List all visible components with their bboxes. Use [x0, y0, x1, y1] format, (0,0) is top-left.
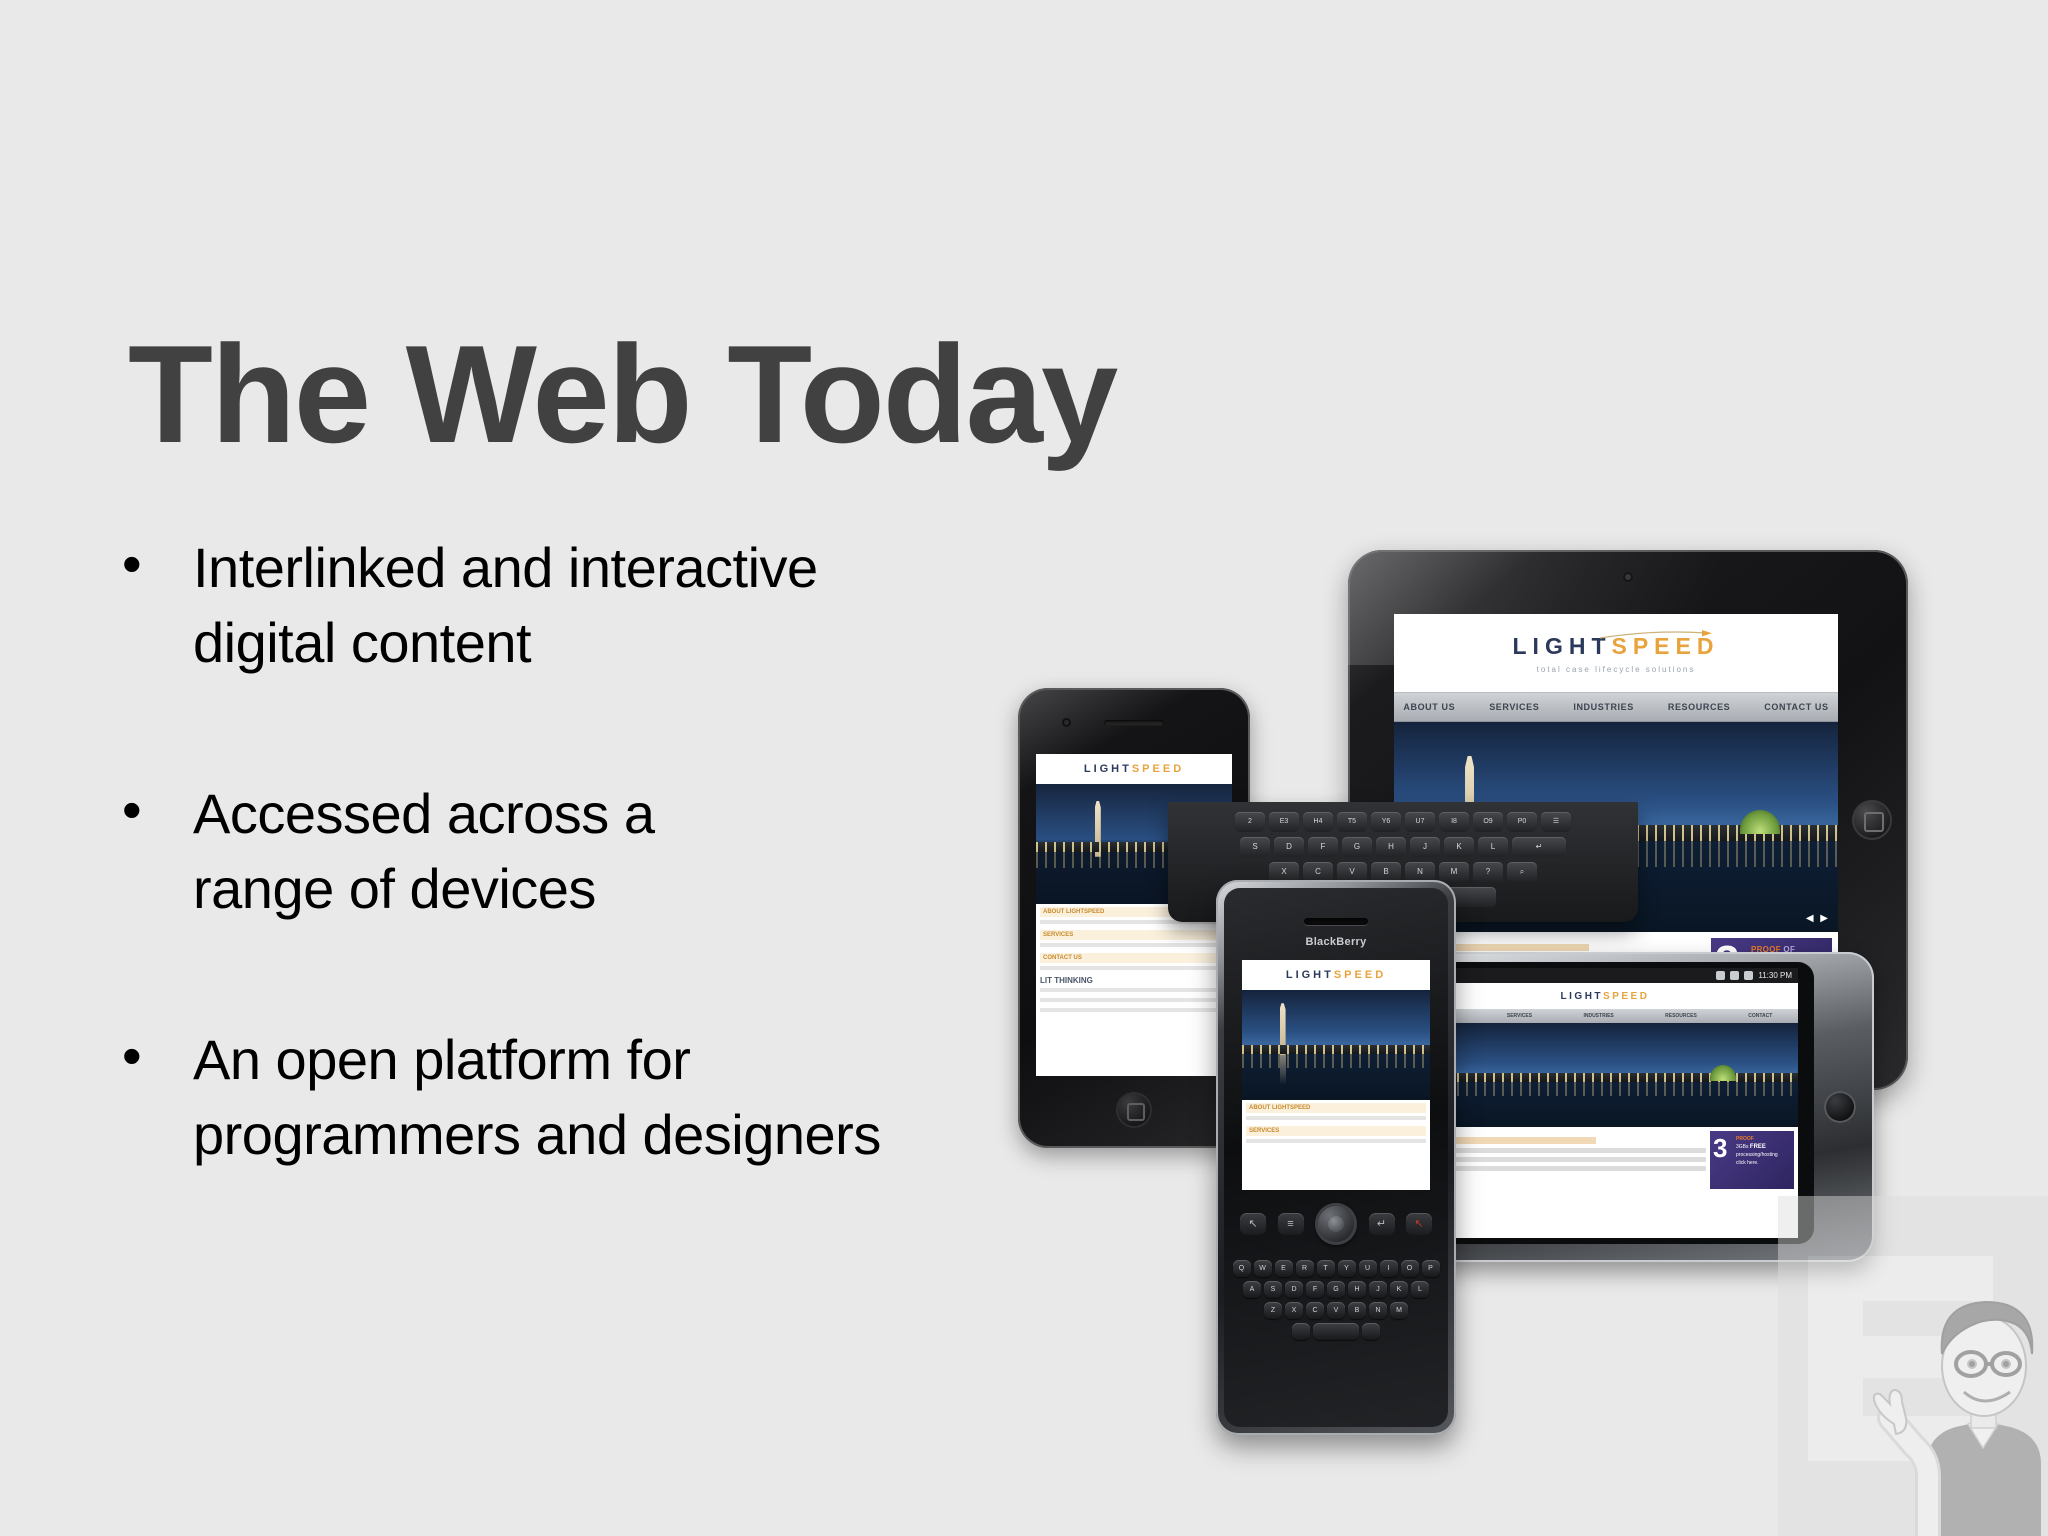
menu-button-icon[interactable]: ≡ [1278, 1213, 1304, 1235]
bullet-marker-icon: • [118, 530, 193, 598]
logo-light: LIGHT [1084, 763, 1132, 775]
nav-item-contact[interactable]: CONTACT [1748, 1013, 1772, 1019]
promo-number: 3 [1713, 1135, 1727, 1161]
bullet-line-2: range of devices [193, 851, 1048, 926]
nav-item-services[interactable]: SERVICES [1489, 702, 1539, 712]
key[interactable]: H [1348, 1281, 1366, 1298]
earpiece-speaker-icon [1304, 918, 1368, 925]
logo-light: LIGHT [1286, 969, 1334, 981]
key[interactable]: Z [1264, 1302, 1282, 1319]
key[interactable]: M [1390, 1302, 1408, 1319]
keyboard-row: X C V B N M ? ⌕ [1180, 862, 1626, 882]
key[interactable]: S [1240, 837, 1270, 857]
lit-thinking-heading: LIT THINKING [1040, 976, 1228, 985]
key[interactable]: Q [1233, 1260, 1251, 1277]
site-sections: ABOUT LIGHTSPEED SERVICES [1242, 1100, 1430, 1152]
bullet-marker-icon: • [118, 1022, 193, 1090]
promo-line-1: PROOF [1736, 1135, 1790, 1143]
site-navigation[interactable]: ABOUT US SERVICES INDUSTRIES RESOURCES C… [1394, 692, 1838, 722]
key[interactable]: B [1371, 862, 1401, 882]
blackberry-brand-label: BlackBerry [1224, 936, 1448, 948]
bullet-line-2: digital content [193, 605, 1048, 680]
carousel-arrows-icon[interactable]: ◀ ▶ [1806, 913, 1830, 924]
sky [1412, 1023, 1798, 1079]
blackberry-device: BlackBerry LIGHTSPEED [1216, 880, 1456, 1435]
promo-line-4[interactable]: click here. [1736, 1159, 1790, 1167]
key[interactable]: J [1369, 1281, 1387, 1298]
promo-free: FREE [1750, 1144, 1766, 1150]
back-button-icon[interactable]: ↵ [1369, 1213, 1395, 1235]
device-cluster-image: LIGHTSPEED total case lifecycle solution… [1018, 520, 2048, 1170]
key[interactable]: K [1444, 837, 1474, 857]
key[interactable]: F [1306, 1281, 1324, 1298]
key[interactable]: P0 [1507, 812, 1537, 832]
site-header: LIGHTSPEED [1036, 754, 1232, 784]
promo-text: PROOF 3GBs FREE processing/hosting click… [1736, 1135, 1790, 1167]
key[interactable]: E3 [1269, 812, 1299, 832]
content-column [1412, 1127, 1710, 1193]
nav-item-contact-us[interactable]: CONTACT US [1764, 702, 1828, 712]
key[interactable]: 2 [1235, 812, 1265, 832]
keyboard-row: Q W E R T Y U I O P [1236, 1260, 1436, 1277]
site-logo: LIGHTSPEED [1561, 991, 1650, 1002]
list-item: • Accessed across a range of devices [118, 776, 1048, 926]
logo-light: LIGHT [1561, 991, 1604, 1002]
section-services[interactable]: SERVICES [1246, 1126, 1426, 1136]
section-services[interactable]: SERVICES [1040, 930, 1228, 940]
key[interactable]: M [1439, 862, 1469, 882]
earpiece-speaker-icon [1104, 720, 1164, 726]
logo-light: LIGHT [1513, 633, 1612, 659]
key[interactable]: U [1359, 1260, 1377, 1277]
promo-line-3: processing/hosting [1736, 1151, 1790, 1159]
key[interactable]: V [1337, 862, 1367, 882]
key[interactable]: E [1275, 1260, 1293, 1277]
site-content-area: 3 PROOF 3GBs FREE processing/hosting cli… [1412, 1127, 1798, 1193]
bullet-line-2: programmers and designers [193, 1097, 1048, 1172]
site-navigation[interactable]: ABOUT SERVICES INDUSTRIES RESOURCES CONT… [1412, 1009, 1798, 1023]
bullet-marker-icon: • [118, 776, 193, 844]
home-button-icon [1116, 1092, 1152, 1128]
nav-item-services[interactable]: SERVICES [1507, 1013, 1532, 1019]
bullet-line-1: An open platform for [193, 1028, 690, 1091]
key[interactable]: V [1327, 1302, 1345, 1319]
nav-item-resources[interactable]: RESOURCES [1665, 1013, 1697, 1019]
bullet-text: An open platform for programmers and des… [193, 1022, 1048, 1172]
home-button-icon [1824, 1091, 1856, 1123]
key[interactable]: U7 [1405, 812, 1435, 832]
key[interactable]: H4 [1303, 812, 1333, 832]
section-contact[interactable]: CONTACT US [1040, 953, 1228, 963]
mascot-watermark [1778, 1196, 2048, 1536]
key-enter[interactable]: ↵ [1512, 837, 1566, 857]
status-time: 11:30 PM [1758, 971, 1792, 980]
key[interactable]: O [1401, 1260, 1419, 1277]
keyboard-row: 2 E3 H4 T5 Y6 U7 I8 O9 P0 ☰ [1180, 812, 1626, 832]
key[interactable]: A [1243, 1281, 1261, 1298]
key[interactable]: B [1348, 1302, 1366, 1319]
blackberry-screen: LIGHTSPEED ABOUT LIGHTSPEED [1242, 960, 1430, 1190]
section-body [1040, 998, 1228, 1002]
section-body [1040, 943, 1228, 947]
section-body [1040, 1008, 1228, 1012]
bullet-line-1: Accessed across a [193, 782, 654, 845]
key[interactable]: T5 [1337, 812, 1367, 832]
notification-icon [1716, 971, 1725, 980]
skyline-reflection [1242, 1054, 1430, 1068]
nav-item-resources[interactable]: RESOURCES [1668, 702, 1730, 712]
key[interactable]: T [1317, 1260, 1335, 1277]
key[interactable]: K [1390, 1281, 1408, 1298]
key[interactable]: I [1380, 1260, 1398, 1277]
end-call-button-icon[interactable]: ↖ [1406, 1213, 1432, 1235]
nav-item-industries[interactable]: INDUSTRIES [1583, 1013, 1613, 1019]
content-line [1416, 1166, 1706, 1171]
section-body [1246, 1116, 1426, 1120]
key[interactable]: C [1306, 1302, 1324, 1319]
site-header: LIGHTSPEED [1412, 983, 1798, 1009]
hero-banner [1412, 1023, 1798, 1127]
key[interactable]: R [1296, 1260, 1314, 1277]
website-lightspeed-mobile: LIGHTSPEED ABOUT LIGHTSPEED [1242, 960, 1430, 1190]
content-line [1416, 1157, 1706, 1162]
key[interactable]: O9 [1473, 812, 1503, 832]
key[interactable]: X [1269, 862, 1299, 882]
key[interactable]: N [1369, 1302, 1387, 1319]
mascot-watermark-icon [1778, 1196, 2048, 1536]
bullet-list: • Interlinked and interactive digital co… [118, 530, 1048, 1172]
logo-speed: SPEED [1132, 763, 1184, 775]
sync-icon [1730, 971, 1739, 980]
hero-banner [1242, 990, 1430, 1100]
key-alt[interactable] [1292, 1323, 1310, 1340]
key-space[interactable] [1313, 1323, 1359, 1340]
key[interactable]: P [1422, 1260, 1440, 1277]
site-header: LIGHTSPEED total case lifecycle solution… [1394, 614, 1838, 692]
bullet-line-1: Interlinked and interactive [193, 536, 818, 599]
promo-banner[interactable]: 3 PROOF 3GBs FREE processing/hosting cli… [1710, 1131, 1794, 1189]
key[interactable]: Y [1338, 1260, 1356, 1277]
home-button-icon [1852, 800, 1892, 840]
site-logo: LIGHTSPEED [1286, 969, 1386, 981]
key[interactable]: C [1303, 862, 1333, 882]
section-body [1040, 966, 1228, 970]
key[interactable]: L [1478, 837, 1508, 857]
call-button-icon[interactable]: ↖ [1240, 1213, 1266, 1235]
city-skyline [1242, 1045, 1430, 1054]
site-logo: LIGHTSPEED [1084, 763, 1184, 775]
key-menu[interactable]: ☰ [1541, 812, 1571, 832]
keyboard-row: A S D F G H J K L [1236, 1281, 1436, 1298]
status-bar: 11:30 PM [1412, 968, 1798, 983]
slide: The Web Today • Interlinked and interact… [0, 0, 2048, 1536]
key[interactable]: F [1308, 837, 1338, 857]
key-search[interactable]: ⌕ [1507, 862, 1537, 882]
trackball-icon[interactable] [1315, 1203, 1357, 1245]
key[interactable]: X [1285, 1302, 1303, 1319]
list-item: • Interlinked and interactive digital co… [118, 530, 1048, 680]
keyboard-row: Z X C V B N M [1236, 1302, 1436, 1319]
key[interactable]: L [1411, 1281, 1429, 1298]
section-body [1040, 988, 1228, 992]
logo-speed: SPEED [1334, 969, 1386, 981]
blackberry-nav-keys[interactable]: ↖ ≡ ↵ ↖ [1240, 1198, 1432, 1250]
bullet-text: Accessed across a range of devices [193, 776, 1048, 926]
key[interactable]: W [1254, 1260, 1272, 1277]
key[interactable]: I8 [1439, 812, 1469, 832]
site-header: LIGHTSPEED [1242, 960, 1430, 990]
page-title: The Web Today [128, 325, 1116, 464]
key[interactable]: S [1264, 1281, 1282, 1298]
key[interactable]: N [1405, 862, 1435, 882]
section-body [1246, 1139, 1426, 1143]
keyboard-row-space [1236, 1323, 1436, 1340]
promo-gbs: 3GBs [1736, 1144, 1750, 1150]
camera-icon [1062, 718, 1071, 727]
blackberry-body: BlackBerry LIGHTSPEED [1224, 888, 1448, 1427]
key[interactable]: Y6 [1371, 812, 1401, 832]
key[interactable]: D [1274, 837, 1304, 857]
skyline-reflection [1412, 1082, 1798, 1096]
keyboard-row: S D F G H J K L ↵ [1180, 837, 1626, 857]
promo-proof: PROOF [1736, 1136, 1754, 1142]
list-item: • An open platform for programmers and d… [118, 1022, 1048, 1172]
camera-icon [1623, 572, 1633, 582]
sidebar-column: 3 PROOF 3GBs FREE processing/hosting cli… [1710, 1127, 1798, 1193]
key-shift[interactable] [1362, 1323, 1380, 1340]
content-line [1416, 1148, 1706, 1153]
section-about[interactable]: ABOUT LIGHTSPEED [1246, 1103, 1426, 1113]
swoosh-icon [1598, 630, 1714, 640]
android-screen: 11:30 PM LIGHTSPEED ABOUT SERVICES INDUS… [1412, 968, 1798, 1238]
key[interactable]: G [1342, 837, 1372, 857]
nav-item-about-us[interactable]: ABOUT US [1403, 702, 1455, 712]
sky [1242, 990, 1430, 1049]
promo-line-2: 3GBs FREE [1736, 1143, 1790, 1151]
key[interactable]: J [1410, 837, 1440, 857]
logo-speed: SPEED [1603, 991, 1649, 1002]
key[interactable]: D [1285, 1281, 1303, 1298]
bullet-text: Interlinked and interactive digital cont… [193, 530, 1048, 680]
city-skyline [1412, 1073, 1798, 1082]
nav-item-industries[interactable]: INDUSTRIES [1573, 702, 1634, 712]
battery-icon [1744, 971, 1753, 980]
key[interactable]: H [1376, 837, 1406, 857]
key[interactable]: G [1327, 1281, 1345, 1298]
site-tagline: total case lifecycle solutions [1537, 665, 1696, 674]
key[interactable]: ? [1473, 862, 1503, 882]
blackberry-keyboard[interactable]: Q W E R T Y U I O P A S D [1236, 1260, 1436, 1413]
